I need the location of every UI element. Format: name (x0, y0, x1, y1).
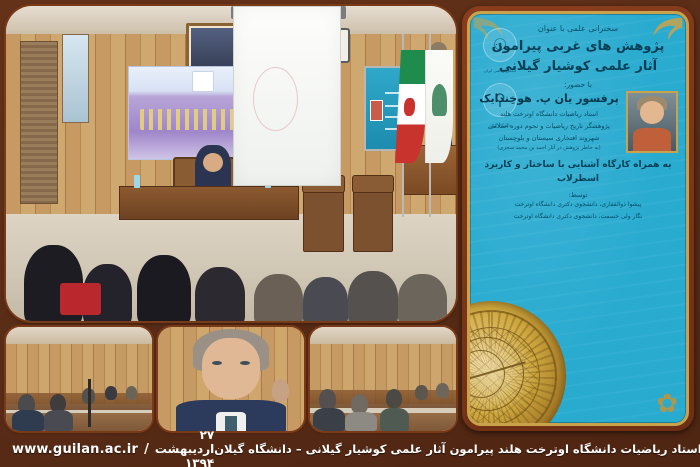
head-table (119, 186, 299, 221)
poster-header-text: سخنرانی علمی با عنوان پژوهش های غربی پیر… (470, 14, 686, 89)
window-pane (62, 34, 89, 122)
side-chair-2 (353, 189, 394, 252)
banner-logo (192, 71, 214, 91)
wall-poster-photo (370, 100, 383, 121)
thumb2-background-person (272, 379, 290, 402)
thumb3-person-3 (386, 389, 402, 408)
audience-person-3 (137, 255, 191, 321)
poster-by-label: توسط: (470, 191, 686, 199)
footer-separator: / (144, 442, 149, 457)
thumbnail-strip (6, 327, 456, 431)
thumb3-person-2 (351, 394, 369, 415)
footer-caption: سخنرانی استاد ریاضیات دانشگاه اوترخت هلن… (214, 442, 700, 456)
thumb3-torso-3 (380, 408, 409, 431)
thumb1-camera-tripod (88, 379, 91, 427)
astrolabe-rete (467, 337, 524, 411)
slide-circle (253, 67, 298, 131)
thumbnail-audience-left (6, 327, 152, 431)
speaker-note: (به خاطر پژوهش در آثار احمد بن محمد سجزی… (478, 144, 620, 153)
footer-website-url[interactable]: www.guilan.ac.ir (12, 442, 138, 457)
thumb1-person-5 (126, 386, 138, 400)
footer-bar: www.guilan.ac.ir / ۲۷ اردیبهشت ۱۳۹۴ سخنر… (0, 431, 700, 467)
poster-workshop-line: به همراه کارگاه آشنایی با ساختار و کاربر… (470, 159, 686, 186)
window-blind (20, 41, 58, 205)
audience-person-4 (195, 267, 245, 321)
speaker-line-3: شهروند افتخاری سیستان و بلوچستان (478, 132, 620, 144)
footer-date: ۲۷ اردیبهشت ۱۳۹۴ (155, 428, 214, 467)
university-flag (425, 50, 453, 163)
footer-left-group: www.guilan.ac.ir / ۲۷ اردیبهشت ۱۳۹۴ (12, 428, 214, 467)
speaker-photo (626, 91, 678, 153)
thumb2-face (202, 338, 260, 398)
speaker-body (633, 128, 671, 151)
poster-title: پژوهش های غربی پیرامون آثار علمی کوشیار … (480, 37, 676, 76)
thumbnail-audience-right (310, 327, 456, 431)
thumb3-person-5 (436, 383, 449, 398)
poster-presenter-2: نگار ولی خسمت، دانشجوی دکتری دانشگاه اوت… (470, 211, 686, 223)
side-chair-1 (303, 189, 344, 252)
poster-kicker: سخنرانی علمی با عنوان (480, 24, 676, 33)
audience-person-8 (398, 274, 448, 321)
poster-flourish-ornament: ✿ (656, 391, 678, 417)
speaker-info: پرفسور یان پ. هوخِندایک استاد ریاضیات دا… (478, 91, 620, 152)
poster-collage-canvas: ☉ انجمن ریاضی ایران ⚲ دانشگاه گیلان سخنر… (0, 0, 700, 467)
thumb1-ceiling (6, 327, 152, 344)
speaker-line-1: استاد ریاضیات دانشگاه اوترخت هلند (478, 108, 620, 120)
thumb3-person-1 (319, 389, 337, 410)
poster-speaker-block: پرفسور یان پ. هوخِندایک استاد ریاضیات دا… (470, 89, 686, 153)
speaker-name: پرفسور یان پ. هوخِندایک (478, 91, 620, 108)
event-poster: ☉ انجمن ریاضی ایران ⚲ دانشگاه گیلان سخنر… (462, 6, 694, 431)
astrolabe-illustration (467, 301, 566, 426)
projection-screen (233, 6, 341, 186)
poster-inner: ☉ انجمن ریاضی ایران ⚲ دانشگاه گیلان سخنر… (467, 11, 689, 426)
thumbnail-professor-portrait (158, 327, 304, 431)
speaker-face (640, 101, 665, 124)
main-photo (6, 6, 456, 321)
thumb1-person-4 (105, 386, 117, 400)
laptop-screen (60, 283, 101, 315)
audience-person-5 (254, 274, 304, 321)
poster-with-label: با حضور: (480, 80, 676, 89)
speaker-line-2: پژوهشگر تاریخ ریاضیات و نجوم دوره اسلامی (478, 120, 620, 132)
audience-person-7 (348, 271, 398, 321)
poster-presenter-1: پیشوا ذوالفقاری، دانشجوی دکتری دانشگاه ا… (470, 199, 686, 211)
thumb3-torso-2 (345, 412, 377, 431)
water-bottle-1 (134, 175, 140, 188)
thumb3-person-4 (415, 385, 428, 400)
thumb2-tie (225, 416, 237, 431)
thumb3-ceiling (310, 327, 456, 344)
audience-person-6 (303, 277, 348, 321)
thumb3-torso-1 (313, 408, 345, 431)
